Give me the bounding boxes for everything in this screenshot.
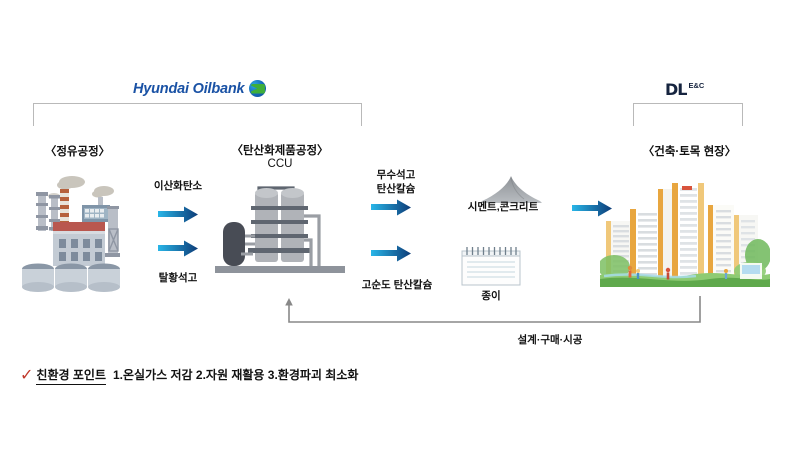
flow-label-calcium-carbonate: 탄산칼슘 bbox=[355, 181, 437, 196]
flow-label-desulfurization-gypsum: 탈황석고 bbox=[134, 270, 222, 285]
section-title-construction-site: 〈건축·토목 현장〉 bbox=[617, 143, 762, 159]
flow-arrow-gypsum bbox=[158, 240, 198, 257]
section-title-ccu: 〈탄산화제품공정〉 bbox=[200, 142, 360, 158]
flow-label-high-purity-calcium-carbonate: 고순도 탄산칼슘 bbox=[347, 277, 447, 292]
check-icon: ✓ bbox=[20, 368, 33, 384]
dl-enc-scope-bracket bbox=[633, 103, 743, 126]
hyundai-oilbank-emblem-icon bbox=[249, 80, 266, 97]
dl-enc-logo: DL E&C bbox=[665, 82, 704, 98]
notepad-icon bbox=[459, 246, 523, 291]
eco-points-label: 친환경 포인트 bbox=[36, 366, 106, 385]
dl-enc-superscript: E&C bbox=[688, 81, 704, 90]
hyundai-oilbank-wordmark: Hyundai Oilbank bbox=[133, 81, 244, 97]
flow-label-epc: 설계·구매·시공 bbox=[405, 332, 695, 347]
hyundai-oilbank-logo: Hyundai Oilbank bbox=[133, 80, 266, 97]
flow-label-anhydrous-gypsum: 무수석고 bbox=[355, 167, 437, 182]
apartment-complex-icon bbox=[600, 175, 770, 300]
eco-points-list: 1.온실가스 저감 2.자원 재활용 3.환경파괴 최소화 bbox=[113, 366, 358, 383]
refinery-icon bbox=[20, 163, 140, 298]
flow-arrow-anhydrous bbox=[371, 199, 411, 216]
infographic-canvas: Hyundai Oilbank DL E&C 〈정유공정〉 〈탄산화제품공정〉 … bbox=[0, 0, 800, 449]
section-title-refinery: 〈정유공정〉 bbox=[0, 143, 155, 159]
dl-wordmark: DL bbox=[665, 82, 686, 98]
eco-points-footer: ✓ 친환경 포인트 1.온실가스 저감 2.자원 재활용 3.환경파괴 최소화 bbox=[20, 366, 358, 385]
hyundai-oilbank-scope-bracket bbox=[33, 103, 362, 126]
flow-label-co2: 이산화탄소 bbox=[134, 178, 222, 193]
ccu-plant-icon bbox=[215, 178, 345, 295]
section-subtitle-ccu: CCU bbox=[200, 158, 360, 170]
flow-label-cement-concrete: 시멘트,콘크리트 bbox=[443, 199, 563, 214]
flow-arrow-co2 bbox=[158, 206, 198, 223]
flow-arrow-high-purity bbox=[371, 245, 411, 262]
